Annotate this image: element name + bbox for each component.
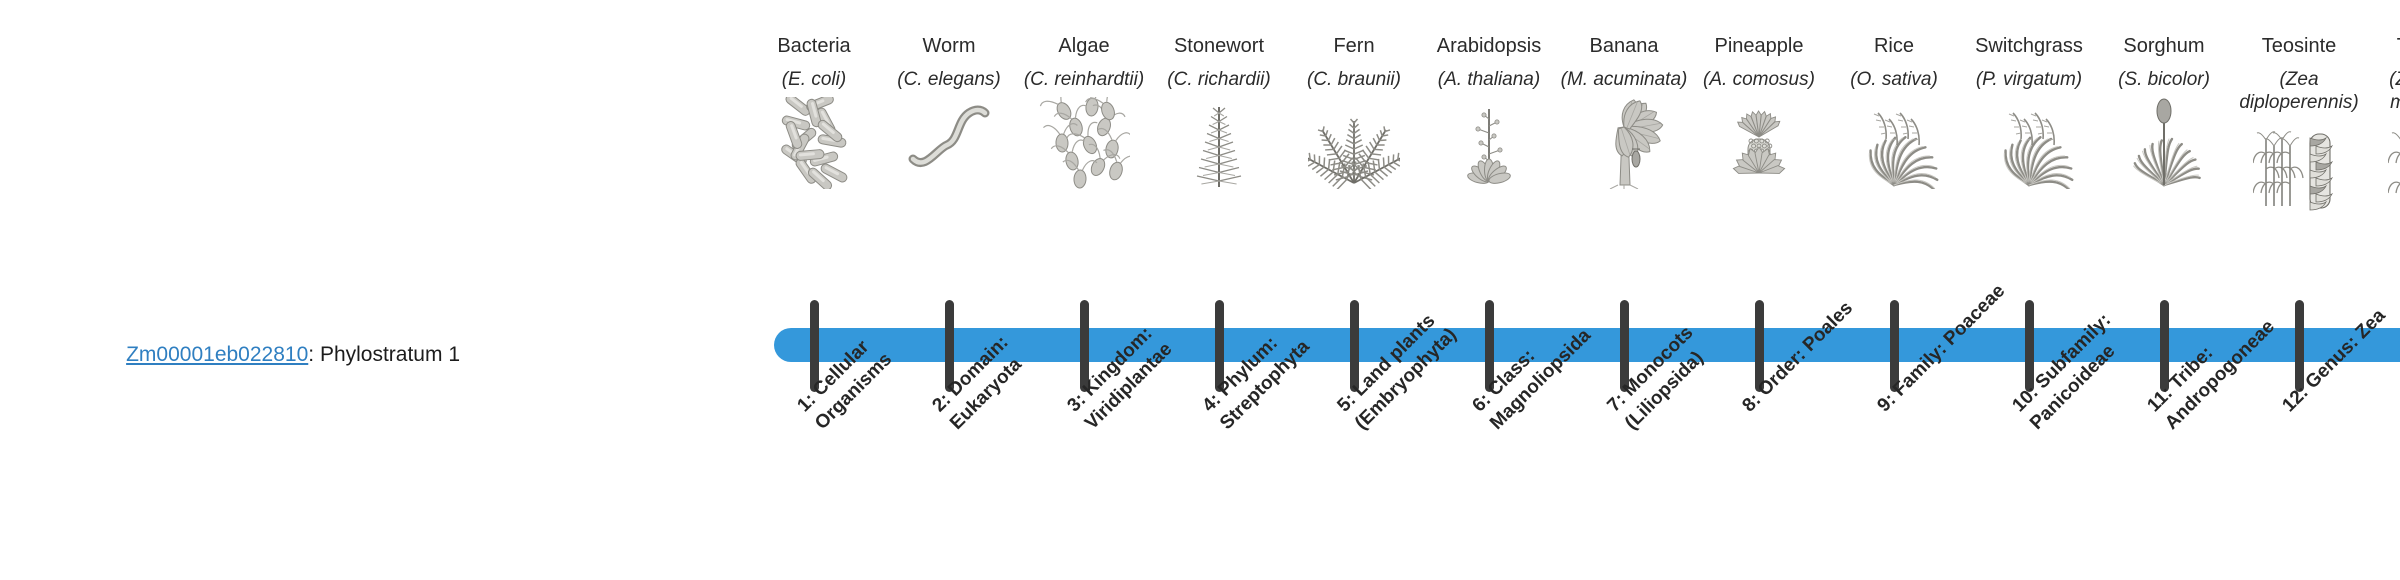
species-column: Arabidopsis(A. thaliana): [1421, 34, 1557, 189]
stratum-label-row: 1: Cellular Organisms2: Domain: Eukaryot…: [470, 400, 2370, 580]
species-common-name: Teosinte: [2231, 34, 2367, 58]
species-common-name: Stonewort: [1151, 34, 1287, 58]
switchgrass-illustration: [1961, 97, 2097, 189]
species-common-name: Algae: [1016, 34, 1152, 58]
species-latin-name: (C. braunii): [1286, 68, 1422, 91]
species-latin-name: (A. thaliana): [1421, 68, 1557, 91]
species-column: Banana(M. acuminata): [1556, 34, 1692, 189]
species-latin-name: (M. acuminata): [1556, 68, 1692, 91]
species-common-name: Bacteria: [746, 34, 882, 58]
species-column: Switchgrass(P. virgatum): [1961, 34, 2097, 189]
fern-illustration: [1286, 97, 1422, 189]
rice-illustration: [1826, 97, 1962, 189]
species-latin-name: (E. coli): [746, 68, 882, 91]
species-latin-name: (S. bicolor): [2096, 68, 2232, 91]
phylostratum-figure: Zm00001eb022810: Phylostratum 1 Bacteria…: [0, 0, 2400, 580]
species-column: Fern(C. braunii): [1286, 34, 1422, 189]
algae-illustration: [1016, 97, 1152, 189]
species-column: Teosinte(Zea diploperennis): [2231, 34, 2367, 212]
worm-illustration: [881, 97, 1017, 189]
pineapple-illustration: [1691, 97, 1827, 189]
species-column: Worm(C. elegans): [881, 34, 1017, 189]
gene-id-link[interactable]: Zm00001eb022810: [126, 343, 308, 366]
gene-label-separator: :: [308, 343, 320, 366]
species-common-name: Banana: [1556, 34, 1692, 58]
stratum-number: 12:: [2278, 382, 2312, 416]
species-common-name: Switchgrass: [1961, 34, 2097, 58]
bacteria-illustration: [746, 97, 882, 189]
phylostratum-value: Phylostratum 1: [320, 343, 460, 366]
species-column: Rice(O. sativa): [1826, 34, 1962, 189]
species-latin-name: (C. richardii): [1151, 68, 1287, 91]
teosinte-illustration: [2231, 120, 2367, 212]
species-column: Stonewort(C. richardii): [1151, 34, 1287, 189]
teosinte-illustration: [2366, 120, 2400, 212]
species-column: Teosinte(Zea mays mexicana): [2366, 34, 2400, 212]
species-common-name: Worm: [881, 34, 1017, 58]
species-header-row: Bacteria(E. coli): [470, 34, 2370, 304]
species-latin-name: (O. sativa): [1826, 68, 1962, 91]
sorghum-illustration: [2096, 97, 2232, 189]
species-common-name: Fern: [1286, 34, 1422, 58]
species-latin-name: (Zea diploperennis): [2231, 68, 2367, 114]
stonewort-illustration: [1151, 97, 1287, 189]
species-common-name: Teosinte: [2366, 34, 2400, 58]
gene-phylostratum-label: Zm00001eb022810: Phylostratum 1: [40, 342, 460, 368]
species-column: Bacteria(E. coli): [746, 34, 882, 189]
species-column: Sorghum(S. bicolor): [2096, 34, 2232, 189]
species-common-name: Rice: [1826, 34, 1962, 58]
species-common-name: Arabidopsis: [1421, 34, 1557, 58]
arabidopsis-illustration: [1421, 97, 1557, 189]
species-common-name: Sorghum: [2096, 34, 2232, 58]
species-column: Pineapple(A. comosus): [1691, 34, 1827, 189]
banana-illustration: [1556, 97, 1692, 189]
species-common-name: Pineapple: [1691, 34, 1827, 58]
species-latin-name: (Zea mays mexicana): [2366, 68, 2400, 114]
species-latin-name: (C. elegans): [881, 68, 1017, 91]
species-latin-name: (C. reinhardtii): [1016, 68, 1152, 91]
species-latin-name: (P. virgatum): [1961, 68, 2097, 91]
species-column: Algae(C. reinhardtii): [1016, 34, 1152, 189]
species-latin-name: (A. comosus): [1691, 68, 1827, 91]
